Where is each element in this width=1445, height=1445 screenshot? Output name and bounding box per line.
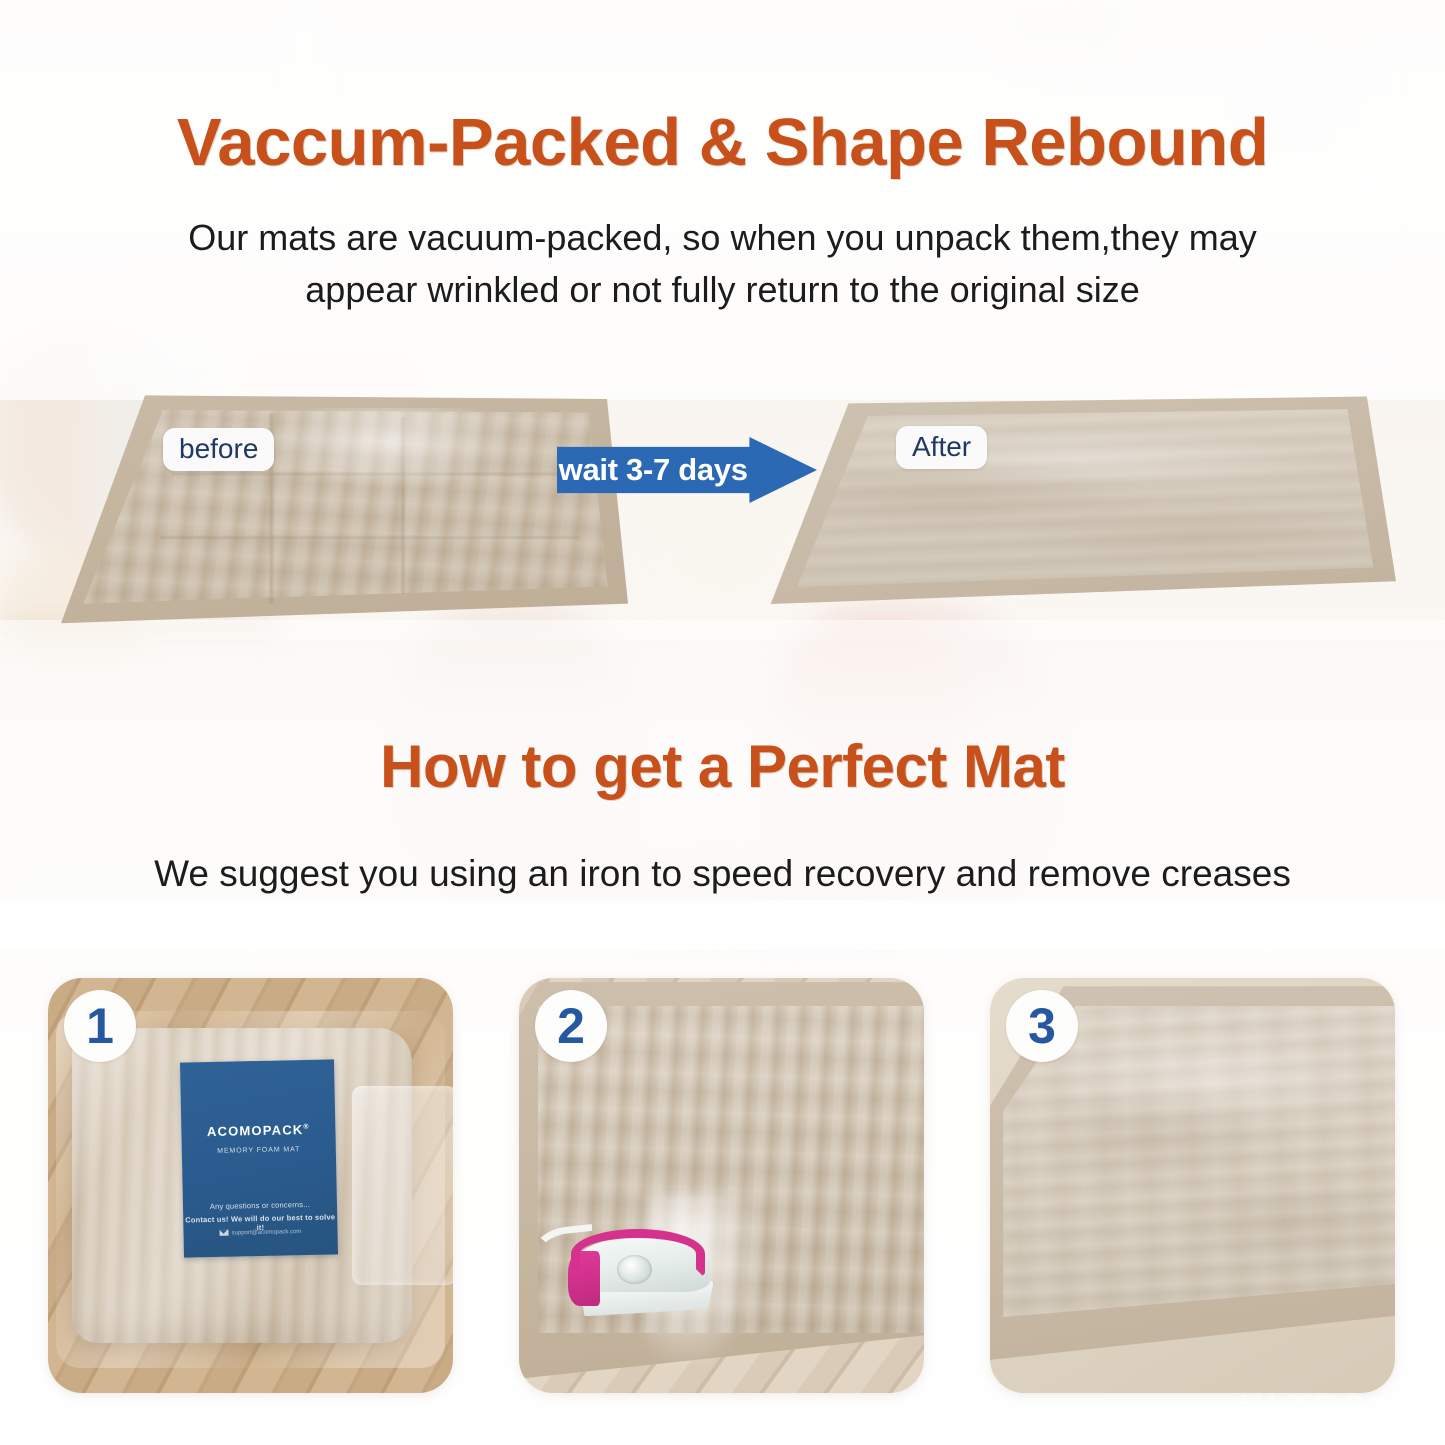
watermark: ELTESAN bbox=[1238, 1388, 1427, 1431]
step-2-badge: 2 bbox=[535, 990, 607, 1062]
step-panel-3: 3 bbox=[990, 978, 1395, 1393]
registered-trademark-icon: ® bbox=[303, 1124, 310, 1131]
before-mat-crease-horizontal-1 bbox=[172, 471, 580, 477]
after-mat-image bbox=[748, 392, 1396, 620]
label-brand-name: ACOMOPACK® bbox=[181, 1122, 335, 1140]
white-overlay-top bbox=[0, 0, 1445, 400]
label-brand-text: ACOMOPACK bbox=[206, 1122, 303, 1139]
arrow-label-text: wait 3-7 days bbox=[557, 437, 749, 503]
envelope-icon bbox=[219, 1229, 228, 1236]
before-label-pill: before bbox=[163, 428, 274, 471]
label-email-text: support@acomopack.com bbox=[231, 1229, 301, 1236]
before-mat-crease-vertical-2 bbox=[400, 417, 406, 593]
before-mat-image bbox=[28, 388, 628, 633]
step-panel-1: ACOMOPACK® MEMORY FOAM MAT Any questions… bbox=[48, 978, 453, 1393]
section-one-subline-1: Our mats are vacuum-packed, so when you … bbox=[0, 212, 1445, 263]
section-one-headline: Vaccum-Packed & Shape Rebound bbox=[0, 104, 1445, 181]
label-question-line-1: Any questions or concerns... bbox=[183, 1200, 337, 1212]
infographic-page: Vaccum-Packed & Shape Rebound Our mats a… bbox=[0, 0, 1445, 1445]
section-one-subline-2: appear wrinkled or not fully return to t… bbox=[0, 264, 1445, 315]
wait-arrow: wait 3-7 days bbox=[557, 437, 817, 503]
section-two-subline: We suggest you using an iron to speed re… bbox=[0, 848, 1445, 901]
before-mat-crease-horizontal-2 bbox=[160, 535, 580, 540]
step-1-product-label: ACOMOPACK® MEMORY FOAM MAT Any questions… bbox=[180, 1059, 338, 1257]
step-panel-2: 2 bbox=[519, 978, 924, 1393]
label-product-name: MEMORY FOAM MAT bbox=[181, 1145, 335, 1155]
section-two-headline: How to get a Perfect Mat bbox=[0, 732, 1445, 801]
step-1-plastic-sheet bbox=[352, 1086, 453, 1285]
step-panels: ACOMOPACK® MEMORY FOAM MAT Any questions… bbox=[0, 978, 1445, 1398]
step-1-badge: 1 bbox=[64, 990, 136, 1062]
step-3-badge: 3 bbox=[1006, 990, 1078, 1062]
step-2-iron bbox=[568, 1219, 714, 1319]
after-label-pill: After bbox=[896, 426, 987, 469]
before-after-comparison bbox=[0, 380, 1445, 670]
